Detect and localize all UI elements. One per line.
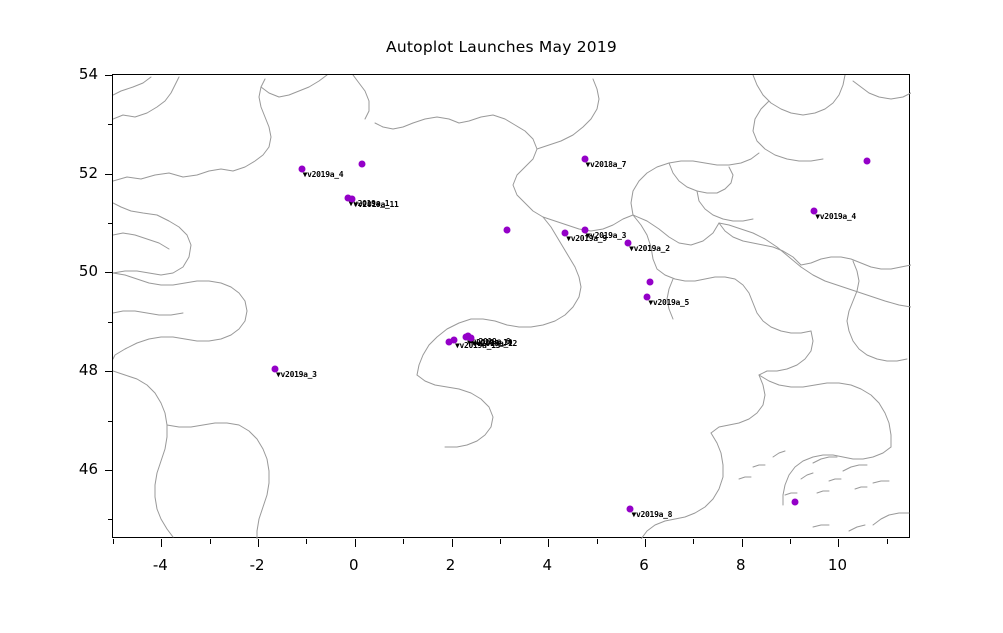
x-axis-tick-label: 4 bbox=[542, 556, 552, 574]
axis-tick bbox=[105, 174, 113, 175]
axis-tick bbox=[105, 470, 113, 471]
figure-canvas: Autoplot Launches May 2019 bbox=[0, 0, 1003, 633]
axis-tick bbox=[597, 539, 598, 544]
axis-tick bbox=[452, 539, 453, 547]
data-point-marker bbox=[504, 227, 511, 234]
data-point-label: ▼v2019a_8 bbox=[631, 510, 672, 519]
data-point-label: ▼v2019a_3 bbox=[276, 370, 317, 379]
axis-tick bbox=[355, 539, 356, 547]
x-axis-tick-label: 2 bbox=[446, 556, 456, 574]
x-axis-tick-label: -2 bbox=[250, 556, 265, 574]
axis-tick bbox=[645, 539, 646, 547]
axis-tick bbox=[838, 539, 839, 547]
x-axis-tick-label: 8 bbox=[736, 556, 746, 574]
data-point-label: ▼v2019a_4 bbox=[303, 170, 344, 179]
axis-tick bbox=[548, 539, 549, 547]
axis-tick bbox=[403, 539, 404, 544]
y-axis-tick-label: 52 bbox=[58, 164, 98, 182]
axis-tick bbox=[113, 539, 114, 544]
axis-tick bbox=[693, 539, 694, 544]
data-point-layer: ▼v2019a_4▼v2019a_1▼v2019a_11▼v2018a_7▼v2… bbox=[113, 75, 911, 539]
data-point-marker bbox=[359, 160, 366, 167]
page-title: Autoplot Launches May 2019 bbox=[0, 38, 1003, 56]
data-point-marker bbox=[864, 158, 871, 165]
data-point-label: ▼v2019a_13 bbox=[455, 341, 500, 350]
plot-area: ▼v2019a_4▼v2019a_1▼v2019a_11▼v2018a_7▼v2… bbox=[112, 74, 910, 538]
axis-tick bbox=[105, 371, 113, 372]
data-point-label: ▼v2019a_2 bbox=[629, 244, 670, 253]
axis-tick bbox=[108, 124, 113, 125]
data-point-marker bbox=[646, 279, 653, 286]
y-axis-tick-label: 54 bbox=[58, 65, 98, 83]
axis-tick bbox=[108, 322, 113, 323]
axis-tick bbox=[500, 539, 501, 544]
data-point-label: ▼v2018a_7 bbox=[586, 160, 627, 169]
axis-tick bbox=[790, 539, 791, 544]
y-axis-tick-label: 50 bbox=[58, 262, 98, 280]
axis-tick bbox=[105, 75, 113, 76]
axis-tick bbox=[306, 539, 307, 544]
x-axis-tick-label: 6 bbox=[639, 556, 649, 574]
data-point-marker bbox=[446, 338, 453, 345]
x-axis-tick-label: 0 bbox=[349, 556, 359, 574]
x-axis-tick-label: -4 bbox=[153, 556, 168, 574]
axis-tick bbox=[108, 519, 113, 520]
data-point-label: ▼v2019a_3 bbox=[586, 231, 627, 240]
x-axis-tick-label: 10 bbox=[828, 556, 847, 574]
axis-tick bbox=[210, 539, 211, 544]
axis-tick bbox=[742, 539, 743, 547]
data-point-label: ▼v2019a_11 bbox=[353, 200, 398, 209]
y-axis-tick-label: 48 bbox=[58, 361, 98, 379]
axis-tick bbox=[105, 272, 113, 273]
axis-tick bbox=[258, 539, 259, 547]
data-point-label: ▼v2019a_4 bbox=[815, 212, 856, 221]
y-axis-tick-label: 46 bbox=[58, 460, 98, 478]
axis-tick bbox=[108, 421, 113, 422]
axis-tick bbox=[161, 539, 162, 547]
axis-tick bbox=[108, 223, 113, 224]
axis-tick bbox=[887, 539, 888, 544]
data-point-label: ▼v2019a_5 bbox=[648, 298, 689, 307]
data-point-marker bbox=[791, 498, 798, 505]
